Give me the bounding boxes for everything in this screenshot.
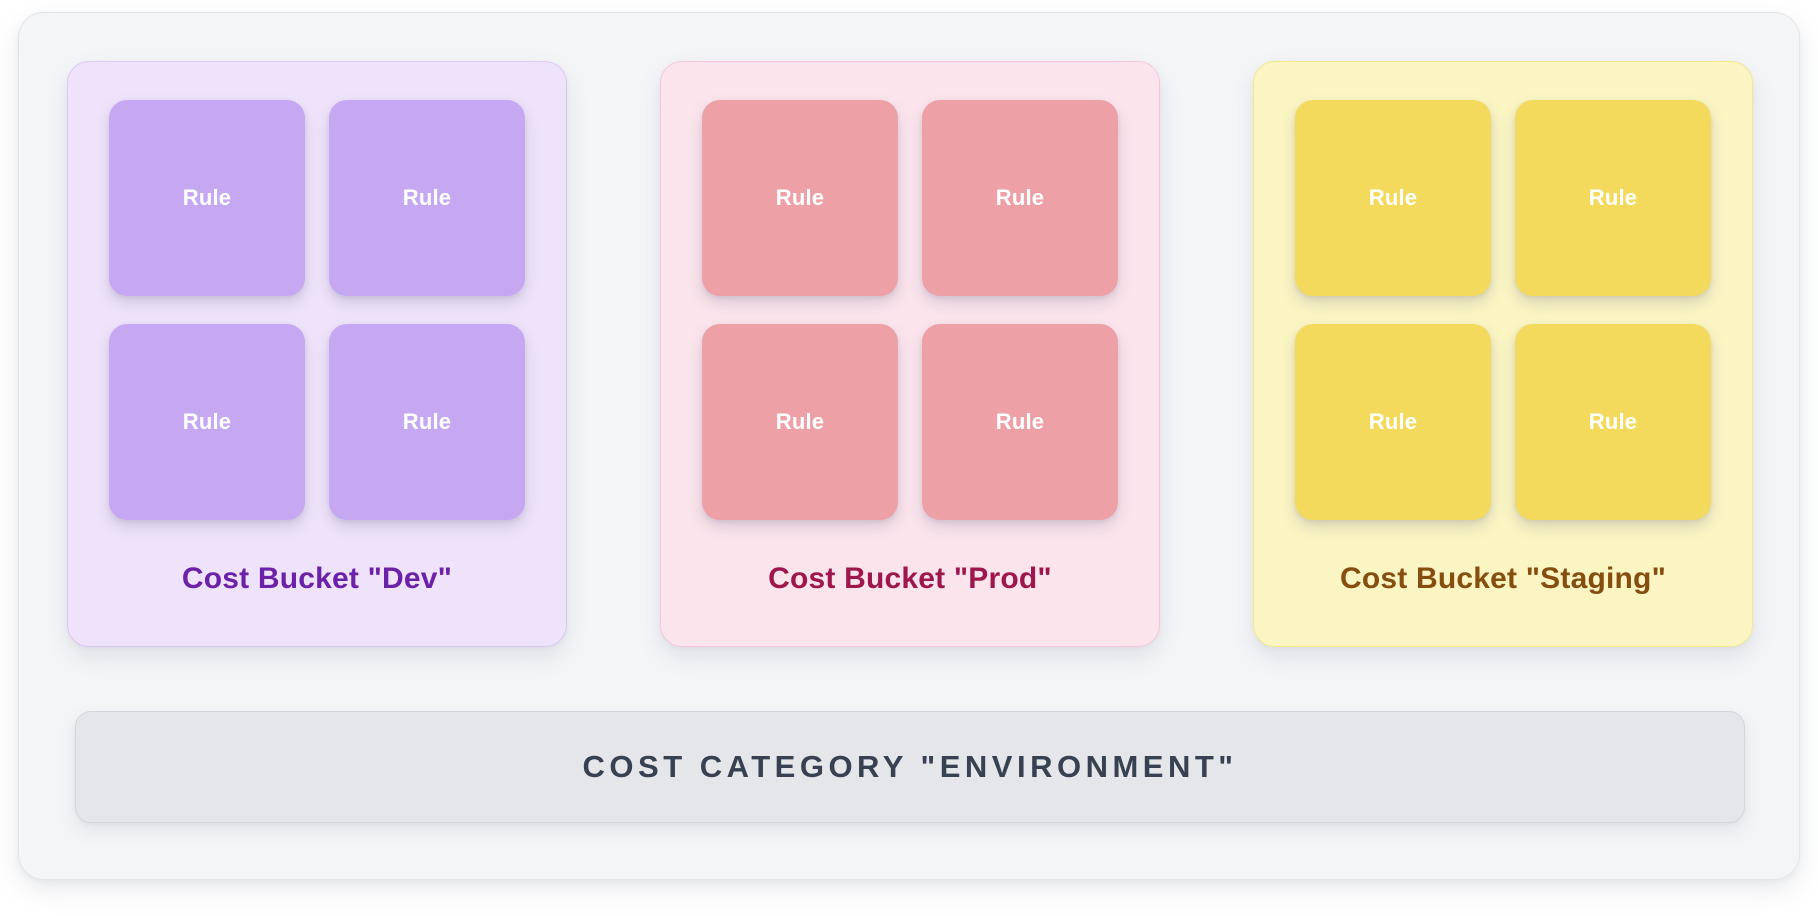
cost-bucket-dev[interactable]: Rule Rule Rule Rule Cost Bucket "Dev" — [67, 61, 567, 647]
cost-category-label: Cost Category "Environment" — [583, 749, 1238, 785]
rule-tile[interactable]: Rule — [1515, 324, 1711, 520]
cost-bucket-label-prod: Cost Bucket "Prod" — [768, 562, 1052, 596]
rule-tile[interactable]: Rule — [109, 324, 305, 520]
cost-bucket-label-dev: Cost Bucket "Dev" — [182, 562, 452, 596]
rule-grid-staging: Rule Rule Rule Rule — [1295, 100, 1711, 520]
cost-bucket-prod[interactable]: Rule Rule Rule Rule Cost Bucket "Prod" — [660, 61, 1160, 647]
rule-tile[interactable]: Rule — [922, 100, 1118, 296]
cost-buckets-row: Rule Rule Rule Rule Cost Bucket "Dev" Ru… — [67, 61, 1753, 647]
rule-tile[interactable]: Rule — [1295, 324, 1491, 520]
cost-category-diagram: Rule Rule Rule Rule Cost Bucket "Dev" Ru… — [18, 12, 1800, 880]
cost-bucket-staging[interactable]: Rule Rule Rule Rule Cost Bucket "Staging… — [1253, 61, 1753, 647]
rule-tile[interactable]: Rule — [702, 100, 898, 296]
cost-category-bar[interactable]: Cost Category "Environment" — [75, 711, 1745, 823]
rule-tile[interactable]: Rule — [702, 324, 898, 520]
rule-tile[interactable]: Rule — [329, 100, 525, 296]
rule-tile[interactable]: Rule — [329, 324, 525, 520]
rule-grid-prod: Rule Rule Rule Rule — [702, 100, 1118, 520]
rule-grid-dev: Rule Rule Rule Rule — [109, 100, 525, 520]
cost-bucket-label-staging: Cost Bucket "Staging" — [1340, 562, 1666, 596]
rule-tile[interactable]: Rule — [1515, 100, 1711, 296]
rule-tile[interactable]: Rule — [1295, 100, 1491, 296]
rule-tile[interactable]: Rule — [922, 324, 1118, 520]
rule-tile[interactable]: Rule — [109, 100, 305, 296]
